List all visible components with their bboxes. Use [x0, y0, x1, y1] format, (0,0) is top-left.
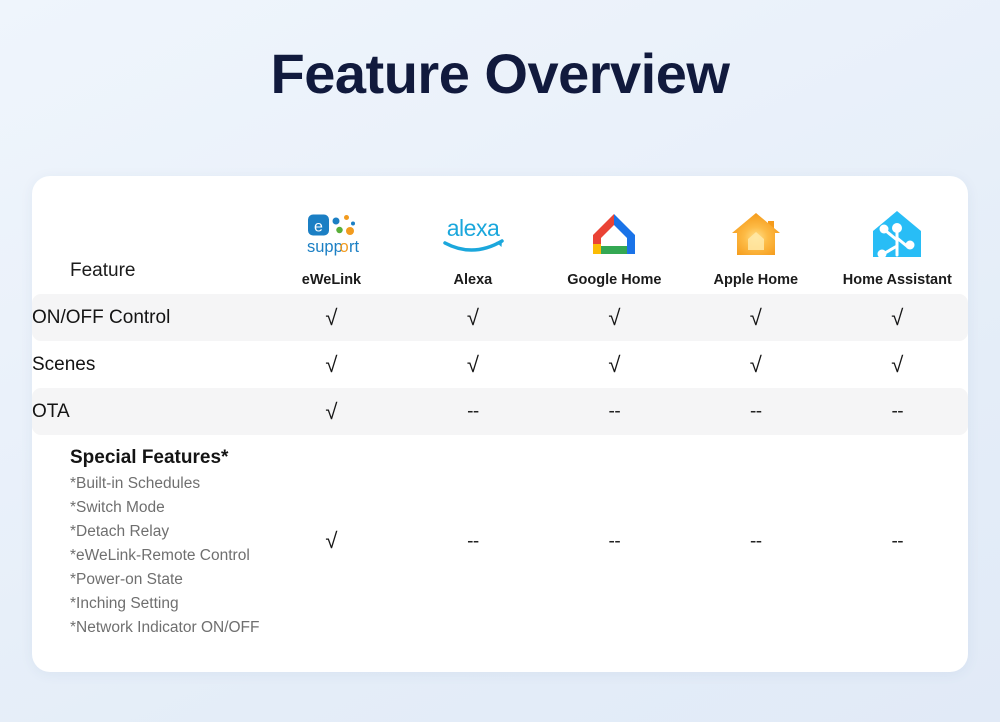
svg-text:e: e: [314, 219, 323, 236]
svg-text:o: o: [340, 238, 349, 256]
svg-text:alexa: alexa: [447, 215, 500, 241]
header-row: Feature e: [32, 176, 968, 294]
cell-google-home: √: [544, 341, 685, 388]
table-header: Feature e: [32, 176, 968, 294]
apple-home-logo-slot: [729, 206, 783, 262]
column-label-ewelink: eWeLink: [302, 272, 361, 288]
table-row-on-off-control: ON/OFF Control √ √ √ √ √: [32, 294, 968, 341]
cell-alexa: √: [402, 341, 543, 388]
cell-apple-home: --: [685, 435, 826, 647]
special-feature-item: *Network Indicator ON/OFF: [70, 616, 261, 640]
feature-column-header: Feature: [32, 176, 261, 294]
special-feature-item: *Built-in Schedules: [70, 472, 261, 496]
special-feature-item: *eWeLink-Remote Control: [70, 544, 261, 568]
feature-table-card: Feature e: [32, 176, 968, 672]
ewelink-support-logo-slot: e supp o rt: [293, 206, 369, 262]
special-features-title: Special Features*: [70, 447, 261, 469]
header-cell-feature: Feature: [32, 176, 261, 294]
table-row-special-features: Special Features* *Built-in Schedules *S…: [32, 435, 968, 647]
cell-alexa: --: [402, 388, 543, 435]
cell-home-assistant: √: [827, 341, 968, 388]
feature-comparison-table: Feature e: [32, 176, 968, 647]
cell-google-home: --: [544, 388, 685, 435]
cell-home-assistant: --: [827, 388, 968, 435]
header-cell-alexa: alexa Alexa: [402, 176, 543, 294]
feature-name: OTA: [32, 388, 261, 435]
cell-apple-home: --: [685, 388, 826, 435]
svg-text:rt: rt: [349, 238, 359, 256]
feature-name: Scenes: [32, 341, 261, 388]
column-label-home-assistant: Home Assistant: [843, 272, 952, 288]
header-cell-apple-home: Apple Home: [685, 176, 826, 294]
cell-alexa: √: [402, 294, 543, 341]
cell-google-home: √: [544, 294, 685, 341]
feature-name-special: Special Features* *Built-in Schedules *S…: [32, 435, 261, 647]
cell-ewelink: √: [261, 294, 402, 341]
special-feature-item: *Switch Mode: [70, 496, 261, 520]
cell-ewelink: √: [261, 388, 402, 435]
cell-home-assistant: √: [827, 294, 968, 341]
column-label-alexa: Alexa: [454, 272, 493, 288]
alexa-logo-slot: alexa: [436, 206, 510, 262]
table-body: ON/OFF Control √ √ √ √ √ Scenes √ √ √ √ …: [32, 294, 968, 647]
header-cell-ewelink: e supp o rt eWeLink: [261, 176, 402, 294]
cell-alexa: --: [402, 435, 543, 647]
cell-apple-home: √: [685, 341, 826, 388]
google-home-icon: [588, 211, 640, 257]
special-feature-item: *Detach Relay: [70, 520, 261, 544]
column-label-apple-home: Apple Home: [714, 272, 799, 288]
svg-text:supp: supp: [307, 238, 343, 256]
apple-home-icon: [729, 210, 783, 258]
table-row-scenes: Scenes √ √ √ √ √: [32, 341, 968, 388]
table-row-ota: OTA √ -- -- -- --: [32, 388, 968, 435]
special-feature-item: *Inching Setting: [70, 592, 261, 616]
cell-ewelink: √: [261, 435, 402, 647]
special-features-list: *Built-in Schedules *Switch Mode *Detach…: [70, 472, 261, 640]
header-cell-google-home: Google Home: [544, 176, 685, 294]
home-assistant-icon: [871, 209, 923, 259]
cell-ewelink: √: [261, 341, 402, 388]
ewelink-support-icon: e supp o rt: [293, 212, 369, 256]
feature-name: ON/OFF Control: [32, 294, 261, 341]
cell-home-assistant: --: [827, 435, 968, 647]
home-assistant-logo-slot: [871, 206, 923, 262]
page-title: Feature Overview: [0, 42, 1000, 106]
column-label-google-home: Google Home: [567, 272, 661, 288]
header-cell-home-assistant: Home Assistant: [827, 176, 968, 294]
cell-apple-home: √: [685, 294, 826, 341]
special-feature-item: *Power-on State: [70, 568, 261, 592]
alexa-icon: alexa: [436, 212, 510, 256]
cell-google-home: --: [544, 435, 685, 647]
google-home-logo-slot: [588, 206, 640, 262]
